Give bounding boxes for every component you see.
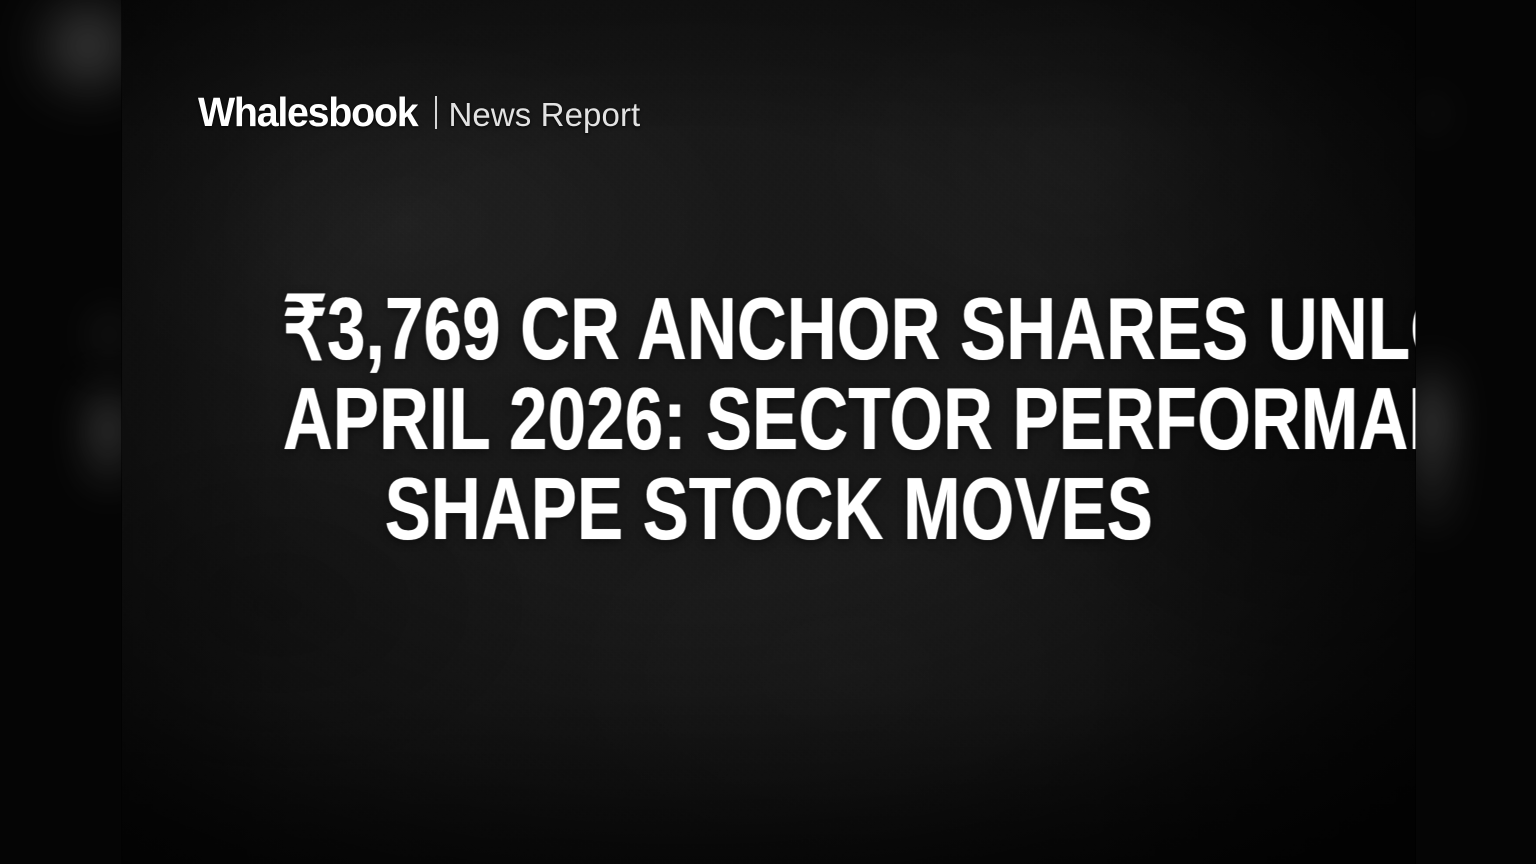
backdrop-strip-left [0,0,122,864]
headline-line-2: APRIL 2026: SECTOR PERFORMANCE TO [283,374,1255,464]
headline-line-3: SHAPE STOCK MOVES [283,464,1255,554]
news-report-card: Whalesbook News Report ₹3,769 CR ANCHOR … [0,0,1536,864]
headline-line-1: ₹3,769 CR ANCHOR SHARES UNLOCK [283,284,1255,374]
panel-edge-right [1415,0,1416,864]
backdrop-darken-overlay [0,0,122,864]
brand-logo-text: Whalesbook [198,92,417,133]
brand-subtitle: News Report [448,98,640,131]
backdrop-strip-right [1416,0,1536,864]
content-panel: Whalesbook News Report ₹3,769 CR ANCHOR … [122,0,1416,864]
headline-block: ₹3,769 CR ANCHOR SHARES UNLOCK APRIL 202… [122,284,1416,554]
brand-header: Whalesbook News Report [198,92,640,133]
panel-edge-left [121,0,122,864]
brand-separator-icon [435,96,437,129]
backdrop-darken-overlay [1416,0,1536,864]
